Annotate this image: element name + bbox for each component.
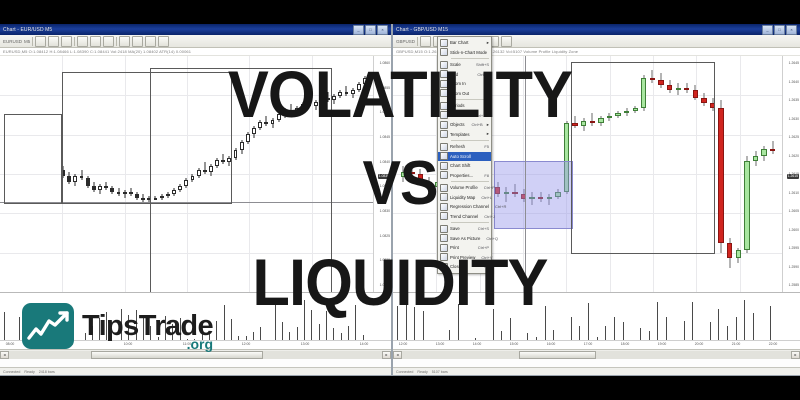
right-window-titlebar[interactable]: Chart - GBP/USD M15 _ □ ×	[393, 24, 800, 35]
volume-bar	[727, 326, 728, 341]
menu-item-accelerator: Ctrl+S	[478, 226, 489, 231]
grid-icon	[438, 70, 450, 79]
left-ohlc-readout: EURUSD,M5 O:1.08412 H:1.08466 L:1.08390 …	[3, 49, 191, 54]
menu-item-label: Zoom In	[450, 81, 481, 86]
volume-bar	[571, 317, 572, 341]
menu-item-bar-chart[interactable]: Bar Chart▸	[438, 38, 491, 48]
volume-bar	[605, 326, 606, 341]
menu-item-periods[interactable]: Periods▸	[438, 101, 491, 111]
minimize-icon[interactable]: _	[353, 25, 364, 35]
price-tick-label: 1.2640	[789, 81, 799, 84]
trendline-icon[interactable]	[61, 36, 72, 47]
menu-item-label: Bar Chart	[450, 40, 483, 45]
selection-rectangle[interactable]	[150, 68, 332, 292]
volume-bar	[319, 324, 320, 341]
liquidity-icon	[438, 193, 450, 202]
candlestick	[744, 156, 749, 252]
menu-item-chart-shift[interactable]: Chart Shift	[438, 161, 491, 171]
scroll-right-icon[interactable]: ▸	[791, 351, 800, 359]
letterbox-top	[0, 0, 800, 24]
menu-item-scale[interactable]: ScaleShift+S	[438, 60, 491, 70]
menu-separator	[451, 222, 489, 223]
volume-bar	[666, 317, 667, 341]
menu-item-label: Auto Scroll	[450, 154, 489, 159]
grid-icon[interactable]	[501, 36, 512, 47]
logo-tld: .org	[187, 337, 213, 351]
time-tick-label: 16:00	[547, 342, 556, 346]
menu-item-accelerator: F8	[484, 173, 489, 178]
volume-bar	[623, 322, 624, 341]
chart-context-menu[interactable]: Bar Chart▸Stick-n-Chart ModeScaleShift+S…	[437, 36, 492, 274]
menu-item-accelerator: Ctrl+R	[495, 204, 506, 209]
rising-chart-icon	[22, 303, 74, 349]
menu-item-templates[interactable]: Templates▸	[438, 130, 491, 140]
price-tick-label: 1.2590	[789, 266, 799, 269]
maximize-icon[interactable]: □	[365, 25, 376, 35]
candle-body	[761, 149, 766, 157]
menu-item-label: Trend Channel	[450, 214, 478, 219]
candle-body	[736, 250, 741, 258]
menu-item-label: Refresh	[450, 144, 478, 149]
preview-icon	[438, 253, 450, 262]
volume-bar	[545, 306, 546, 341]
menu-item-label: Save	[450, 226, 472, 231]
toolbar-divider	[116, 37, 117, 46]
menu-item-refresh[interactable]: RefreshF5	[438, 142, 491, 152]
candle-icon	[438, 48, 450, 57]
time-tick-label: 19:00	[658, 342, 667, 346]
price-tick-label: 1.2595	[789, 247, 799, 250]
print-icon	[438, 243, 450, 252]
volume-bar	[260, 327, 261, 341]
menu-item-accelerator: Ctrl+P	[478, 245, 489, 250]
template-icon	[438, 130, 450, 139]
scroll-right-icon[interactable]: ▸	[382, 351, 391, 359]
menu-item-accelerator: Ctrl+V	[481, 255, 492, 260]
clock-icon	[438, 101, 450, 110]
candlestick	[426, 177, 431, 190]
zoom-out-icon	[438, 89, 450, 98]
candle-body	[351, 90, 355, 94]
candlestick	[718, 100, 723, 252]
bar-chart-icon[interactable]	[119, 36, 130, 47]
menu-item-accelerator: -	[488, 91, 489, 96]
zoom-in-icon	[438, 79, 450, 88]
candlestick	[736, 248, 741, 263]
time-tick-label: 12:00	[399, 342, 408, 346]
menu-item-print-preview[interactable]: Print PreviewCtrl+V	[438, 253, 491, 263]
price-tick-label: 1.0820	[380, 259, 390, 262]
candle-body	[338, 92, 342, 96]
candlestick	[727, 238, 732, 268]
menu-item-label: Grid	[450, 72, 471, 77]
menu-item-regression-channel[interactable]: Regression ChannelCtrl+R	[438, 202, 491, 212]
menu-separator	[451, 140, 489, 141]
autoscroll-icon	[438, 152, 450, 161]
menu-item-accelerator: Ctrl+J	[484, 214, 495, 219]
right-window-title: Chart - GBP/USD M15	[396, 27, 448, 33]
volume-bar	[397, 306, 398, 341]
price-tick-label: 1.0860	[380, 62, 390, 65]
price-tick-label: 1.2585	[789, 284, 799, 287]
time-tick-label: 20:00	[695, 342, 704, 346]
scale-icon	[438, 60, 450, 69]
right-window-controls[interactable]: _ □ ×	[762, 25, 797, 35]
menu-separator	[451, 181, 489, 182]
price-tick-label: 1.0855	[380, 87, 390, 90]
grid-icon[interactable]	[158, 36, 169, 47]
menu-item-liquidity-map[interactable]: Liquidity MapCtrl+L	[438, 193, 491, 203]
menu-item-save[interactable]: SaveCtrl+S	[438, 224, 491, 234]
time-tick-label: 13:00	[301, 342, 310, 346]
toolbar-symbol: EURUSD	[3, 39, 22, 44]
menu-item-accelerator: Ctrl+L	[481, 195, 492, 200]
submenu-arrow-icon: ▸	[487, 131, 489, 137]
volume-bar	[297, 327, 298, 341]
left-window-controls[interactable]: _ □ ×	[353, 25, 388, 35]
candle-body	[418, 174, 423, 182]
scroll-track[interactable]	[402, 351, 791, 359]
menu-item-trend-channel[interactable]: Trend ChannelCtrl+J	[438, 212, 491, 222]
candlestick	[409, 164, 414, 177]
volume-bar	[493, 309, 494, 341]
volume-bar	[231, 319, 232, 341]
menu-item-label: Chart Shift	[450, 163, 489, 168]
volume-bar	[224, 305, 225, 341]
logo-wordmark: TipsTrade .org	[82, 312, 213, 341]
time-tick-label: 21:00	[732, 342, 741, 346]
close-icon	[438, 262, 450, 271]
status-connection: Connected	[396, 370, 413, 374]
cursor-icon[interactable]	[35, 36, 46, 47]
volume-bar	[657, 302, 658, 341]
volume-bar	[588, 303, 589, 341]
candlestick	[338, 90, 342, 98]
volume-bar	[423, 311, 424, 341]
submenu-arrow-icon: ▸	[488, 112, 490, 118]
candle-body	[401, 172, 406, 177]
channel-icon	[438, 202, 450, 211]
menu-item-label: Volume Profile	[450, 185, 478, 190]
candle-body	[770, 149, 775, 152]
left-toolbar[interactable]: EURUSD M5	[0, 35, 391, 48]
liquidity-zone-highlight[interactable]	[494, 161, 573, 229]
candlestick	[770, 141, 775, 154]
volume-bar	[355, 305, 356, 341]
price-tick-label: 1.0840	[380, 161, 390, 164]
candle-body	[744, 161, 749, 250]
menu-item-objects[interactable]: ObjectsCtrl+B▸	[438, 120, 491, 130]
refresh-icon	[438, 142, 450, 151]
maximize-icon[interactable]: □	[774, 25, 785, 35]
status-state: Ready	[24, 370, 34, 374]
last-price-badge: 1.0835	[378, 174, 390, 179]
menu-item-label: Periods	[450, 103, 483, 108]
toolbar-divider	[74, 37, 75, 46]
toolbar-divider	[32, 37, 33, 46]
right-time-axis: 12:0013:0014:0015:0016:0017:0018:0019:00…	[393, 340, 800, 349]
menu-item-auto-scroll[interactable]: Auto Scroll	[438, 152, 491, 162]
menu-separator	[451, 58, 489, 59]
last-price-badge: 1.2615	[787, 174, 799, 179]
zoom-in-icon[interactable]	[90, 36, 101, 47]
menu-item-indicators[interactable]: IndicatorsCtrl+I▸	[438, 111, 491, 121]
menu-item-label: Print	[450, 245, 472, 250]
candlestick	[363, 76, 367, 88]
volume-bar	[333, 328, 334, 341]
menu-item-accelerator: F5	[484, 144, 489, 149]
candlestick	[345, 86, 349, 96]
volume-bar	[579, 326, 580, 341]
volume-bar	[406, 301, 407, 341]
volume-bar	[684, 321, 685, 341]
price-tick-label: 1.0845	[380, 136, 390, 139]
price-tick-label: 1.2610	[789, 192, 799, 195]
volume-bar	[282, 322, 283, 341]
menu-item-accelerator: Shift+S	[476, 62, 489, 67]
status-bars: 5107 bars	[432, 370, 448, 374]
status-state: Ready	[417, 370, 427, 374]
price-tick-label: 1.2620	[789, 155, 799, 158]
volume-bar	[216, 321, 217, 341]
image-icon	[438, 234, 450, 243]
volume-bar	[744, 300, 745, 341]
candle-body	[753, 156, 758, 161]
volume-bar	[710, 322, 711, 341]
volume-bar	[458, 304, 459, 341]
candle-body	[345, 92, 349, 94]
time-tick-label: 08:00	[6, 342, 15, 346]
menu-item-accelerator: Ctrl+I	[475, 113, 485, 118]
volume-icon	[438, 183, 450, 192]
indicator-icon	[438, 111, 450, 120]
price-tick-label: 1.2600	[789, 229, 799, 232]
price-tick-label: 1.0825	[380, 235, 390, 238]
menu-item-close[interactable]: CloseF4	[438, 262, 491, 272]
volume-bar	[770, 306, 771, 341]
candlestick	[401, 166, 406, 181]
candlestick	[332, 94, 336, 104]
candle-body	[727, 243, 732, 258]
menu-item-accelerator: Ctrl+P	[484, 185, 495, 190]
volume-bar	[275, 301, 276, 341]
scroll-left-icon[interactable]: ◂	[0, 351, 9, 359]
menu-item-save-as-picture[interactable]: Save As PictureCtrl+Q	[438, 234, 491, 244]
save-icon	[438, 224, 450, 233]
left-price-plot[interactable]: 1.08601.08551.08501.08451.08401.08351.08…	[0, 56, 391, 292]
shift-icon	[438, 161, 450, 170]
scroll-left-icon[interactable]: ◂	[393, 351, 402, 359]
time-tick-label: 12:00	[242, 342, 251, 346]
tipstrade-logo: TipsTrade .org	[22, 303, 213, 349]
menu-item-accelerator: +	[487, 81, 489, 86]
letterbox-bottom	[0, 376, 800, 400]
properties-icon	[438, 171, 450, 180]
volume-bar	[692, 302, 693, 341]
left-window-titlebar[interactable]: Chart - EUR/USD M5 _ □ ×	[0, 24, 391, 35]
price-tick-label: 1.2630	[789, 118, 799, 121]
price-tick-label: 1.0850	[380, 111, 390, 114]
left-statusbar: Connected Ready 2418 bars	[0, 367, 391, 375]
price-tick-label: 1.2605	[789, 210, 799, 213]
minimize-icon[interactable]: _	[762, 25, 773, 35]
volume-bar	[753, 313, 754, 341]
fibonacci-icon[interactable]	[77, 36, 88, 47]
time-tick-label: 13:00	[436, 342, 445, 346]
price-axis[interactable]: 1.26451.26401.26351.26301.26251.26201.26…	[782, 56, 800, 292]
close-icon[interactable]: ×	[786, 25, 797, 35]
candle-body	[426, 182, 431, 187]
menu-item-properties[interactable]: Properties...F8	[438, 171, 491, 181]
selection-rectangle[interactable]	[571, 62, 715, 254]
selection-rectangle[interactable]	[4, 114, 62, 204]
menu-item-zoom-out[interactable]: Zoom Out-	[438, 89, 491, 99]
candle-body	[718, 108, 723, 243]
menu-item-accelerator: Ctrl+B	[472, 122, 483, 127]
candlestick	[418, 169, 423, 184]
volume-bar	[4, 312, 5, 341]
volume-bar	[614, 317, 615, 341]
volume-bar	[414, 307, 415, 341]
menu-item-accelerator: F4	[484, 264, 489, 269]
close-icon[interactable]: ×	[377, 25, 388, 35]
menu-item-accelerator: Ctrl+Q	[486, 236, 498, 241]
menu-item-zoom-in[interactable]: Zoom In+	[438, 79, 491, 89]
right-statusbar: Connected Ready 5107 bars	[393, 367, 800, 375]
menu-item-label: Indicators	[450, 113, 469, 118]
candlestick	[357, 82, 361, 92]
candle-body	[409, 172, 414, 175]
candle-body	[363, 78, 367, 84]
crosshair-icon[interactable]	[48, 36, 59, 47]
volume-bar	[736, 317, 737, 341]
price-axis[interactable]: 1.08601.08551.08501.08451.08401.08351.08…	[373, 56, 391, 292]
menu-item-label: Save As Picture	[450, 236, 480, 241]
menu-item-label: Close	[450, 264, 478, 269]
price-tick-label: 1.2645	[789, 62, 799, 65]
menu-item-print[interactable]: PrintCtrl+P	[438, 243, 491, 253]
right-horizontal-scrollbar[interactable]: ◂ ▸	[393, 349, 800, 359]
volume-bar	[640, 328, 641, 341]
menu-item-label: Stick-n-Chart Mode	[450, 50, 489, 55]
toolbar-symbol: GBPUSD	[396, 39, 415, 44]
submenu-arrow-icon: ▸	[487, 103, 489, 109]
menu-item-label: Regression Channel	[450, 204, 489, 209]
menu-item-label: Liquidity Map	[450, 195, 475, 200]
volume-bar	[304, 300, 305, 341]
rising-chart-glyph	[22, 303, 74, 349]
menu-item-label: Properties...	[450, 173, 478, 178]
toolbar-timeframe: M5	[24, 39, 30, 44]
volume-bar	[348, 326, 349, 341]
status-bars: 2418 bars	[39, 370, 55, 374]
menu-item-label: Zoom Out	[450, 91, 482, 96]
menu-item-label: Print Preview	[450, 255, 475, 260]
submenu-arrow-icon: ▸	[487, 40, 489, 46]
time-tick-label: 17:00	[584, 342, 593, 346]
candlestick	[761, 146, 766, 161]
price-tick-label: 1.0835	[380, 185, 390, 188]
candle-wick	[772, 141, 773, 154]
volume-bar	[510, 318, 511, 341]
time-tick-label: 14:00	[473, 342, 482, 346]
menu-item-stick-n-chart-mode[interactable]: Stick-n-Chart Mode	[438, 48, 491, 58]
status-connection: Connected	[3, 370, 20, 374]
volume-bar	[19, 317, 20, 341]
menu-item-label: Templates	[450, 132, 483, 137]
time-tick-label: 14:00	[360, 342, 369, 346]
candle-wick	[346, 86, 347, 96]
volume-bar	[311, 310, 312, 341]
price-tick-label: 1.2635	[789, 99, 799, 102]
menu-item-grid[interactable]: GridCtrl+G	[438, 70, 491, 80]
menu-item-volume-profile[interactable]: Volume ProfileCtrl+P	[438, 183, 491, 193]
candlestick	[753, 151, 758, 166]
candle-wick	[411, 164, 412, 177]
menu-item-accelerator: Ctrl+G	[477, 72, 489, 77]
scroll-thumb[interactable]	[519, 351, 597, 359]
thumbnail-canvas: Chart - EUR/USD M5 _ □ × EURUSD M5	[0, 0, 800, 400]
candle-body	[332, 96, 336, 100]
time-tick-label: 22:00	[769, 342, 778, 346]
time-tick-label: 15:00	[510, 342, 519, 346]
line-chart-icon[interactable]	[145, 36, 156, 47]
zoom-out-icon[interactable]	[103, 36, 114, 47]
scroll-track[interactable]	[9, 351, 382, 359]
menu-item-label: Objects	[450, 122, 466, 127]
cursor-icon[interactable]	[420, 36, 431, 47]
submenu-arrow-icon: ▸	[487, 122, 489, 128]
vertical-marker-line	[525, 56, 526, 292]
candle-body	[357, 84, 361, 90]
left-infobar: EURUSD,M5 O:1.08412 H:1.08466 L:1.08390 …	[0, 48, 391, 56]
volume-bar	[718, 309, 719, 341]
object-icon	[438, 120, 450, 129]
menu-separator	[451, 99, 489, 100]
toolbar-divider	[417, 37, 418, 46]
menu-item-label: Scale	[450, 62, 470, 67]
time-tick-label: 18:00	[621, 342, 630, 346]
candlestick	[351, 88, 355, 98]
price-tick-label: 1.0830	[380, 210, 390, 213]
left-window-title: Chart - EUR/USD M5	[3, 27, 52, 33]
trend-icon	[438, 212, 450, 221]
bar-chart-icon	[438, 38, 450, 47]
scroll-thumb[interactable]	[91, 351, 263, 359]
price-tick-label: 1.2625	[789, 136, 799, 139]
candle-chart-icon[interactable]	[132, 36, 143, 47]
price-tick-label: 1.0815	[380, 284, 390, 287]
right-volume-pane	[393, 292, 800, 341]
volume-bar	[326, 311, 327, 341]
